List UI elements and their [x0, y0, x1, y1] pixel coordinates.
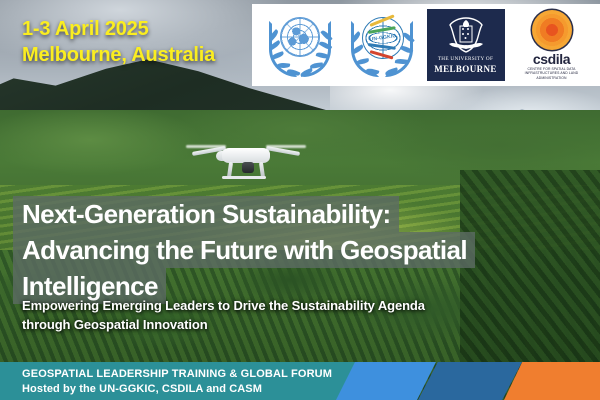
csdila-caption: CENTRE FOR SPATIAL DATA INFRASTRUCTURES …	[523, 67, 581, 80]
conference-poster: 1-3 April 2025 Melbourne, Australia	[0, 0, 600, 400]
drone-skid	[222, 176, 266, 179]
drone-body	[222, 148, 270, 163]
footer-bar: GEOSPATIAL LEADERSHIP TRAINING & GLOBAL …	[0, 362, 600, 400]
event-location: Melbourne, Australia	[22, 42, 215, 68]
drone-icon	[186, 138, 306, 182]
csdila-logo-box: csdila CENTRE FOR SPATIAL DATA INFRASTRU…	[514, 8, 590, 82]
melbourne-line2: MELBOURNE	[434, 64, 497, 74]
drone-camera-gimbal	[242, 162, 254, 173]
subtitle-line-2: through Geospatial Innovation	[22, 315, 425, 334]
csdila-logo: csdila CENTRE FOR SPATIAL DATA INFRASTRU…	[514, 9, 590, 81]
logo-bar: UN-GGKIC	[252, 4, 600, 86]
right-dark-foliage	[460, 170, 600, 370]
un-emblem-logo	[263, 9, 337, 81]
page-subtitle: Empowering Emerging Leaders to Drive the…	[22, 296, 425, 334]
un-ggkic-icon: UN-GGKIC	[346, 9, 418, 81]
event-date: 1-3 April 2025	[22, 16, 215, 42]
csdila-rings-icon	[532, 10, 572, 50]
csdila-wordmark: csdila	[533, 52, 570, 66]
footer-text: GEOSPATIAL LEADERSHIP TRAINING & GLOBAL …	[22, 367, 332, 397]
footer-line-1: GEOSPATIAL LEADERSHIP TRAINING & GLOBAL …	[22, 367, 332, 382]
subtitle-line-1: Empowering Emerging Leaders to Drive the…	[22, 296, 425, 315]
headline-line-2: Advancing the Future with Geospatial	[13, 232, 475, 268]
un-ggkic-logo: UN-GGKIC	[346, 9, 418, 81]
university-of-melbourne-logo: THE UNIVERSITY OF MELBOURNE	[427, 9, 505, 81]
event-date-location: 1-3 April 2025 Melbourne, Australia	[22, 16, 215, 68]
footer-segment-navy	[418, 362, 522, 400]
melbourne-line1: THE UNIVERSITY OF	[438, 56, 493, 62]
footer-line-2: Hosted by the UN-GGKIC, CSDILA and CASM	[22, 382, 332, 397]
melbourne-crest-icon	[446, 16, 486, 54]
un-emblem-icon	[263, 9, 337, 81]
page-title: Next-Generation Sustainability: Advancin…	[13, 196, 475, 304]
melbourne-logo-box: THE UNIVERSITY OF MELBOURNE	[427, 9, 505, 81]
un-wreath-icon	[267, 21, 333, 79]
ggkic-wreath-icon	[349, 21, 415, 79]
headline-line-1: Next-Generation Sustainability:	[13, 196, 399, 232]
